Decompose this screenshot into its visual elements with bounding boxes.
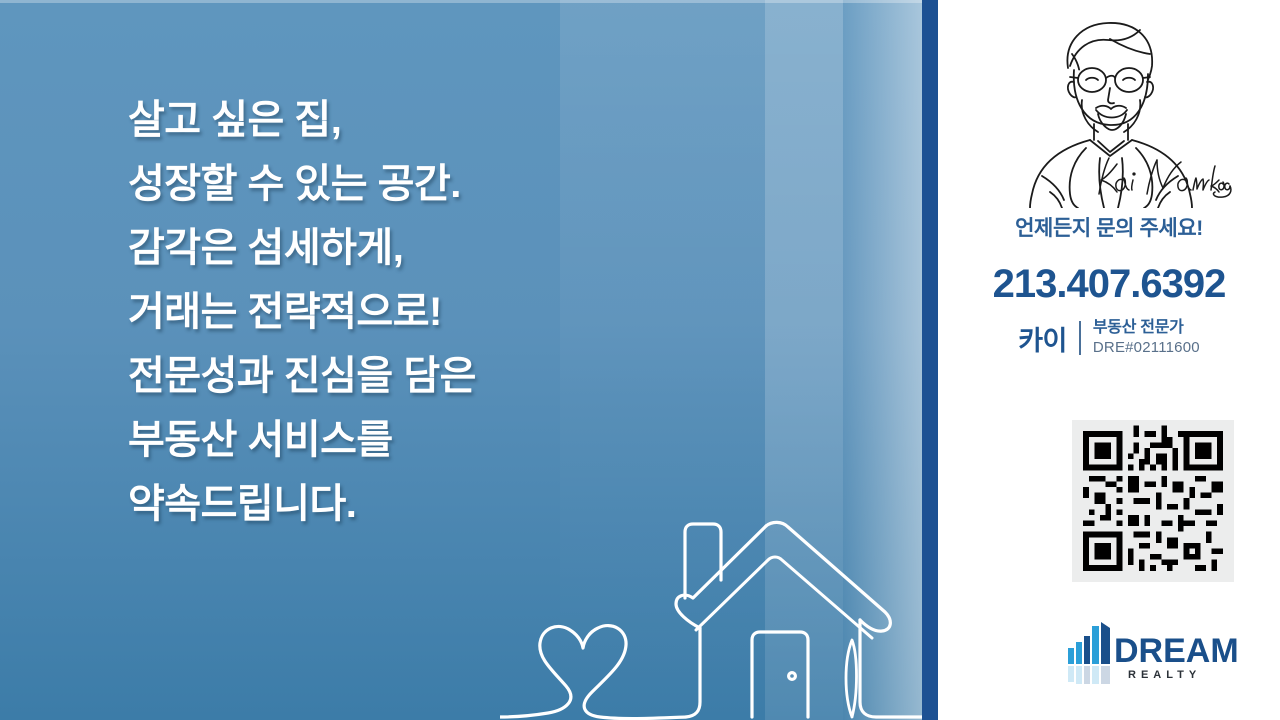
- house-heart-line-art-icon: [500, 480, 938, 720]
- agent-role-block: 부동산 전문가 DRE#02111600: [1093, 318, 1200, 358]
- headline-line-3: 감각은 섬세하게,: [128, 216, 668, 280]
- headline-block: 살고 싶은 집, 성장할 수 있는 공간. 감각은 섬세하게, 거래는 전략적으…: [128, 88, 668, 536]
- headline-line-2: 성장할 수 있는 공간.: [128, 152, 668, 216]
- agent-name: 카이: [1018, 319, 1067, 358]
- promotional-card: 살고 싶은 집, 성장할 수 있는 공간. 감각은 섬세하게, 거래는 전략적으…: [0, 0, 1280, 720]
- svg-text:REALTY: REALTY: [1128, 669, 1201, 681]
- hero-panel: 살고 싶은 집, 성장할 수 있는 공간. 감각은 섬세하게, 거래는 전략적으…: [0, 0, 938, 720]
- headline-line-1: 살고 싶은 집,: [128, 88, 668, 152]
- headline-line-4: 거래는 전략적으로!: [128, 280, 668, 344]
- headline-line-6: 부동산 서비스를: [128, 408, 668, 472]
- navy-accent-strip: [922, 0, 938, 720]
- divider: [1079, 321, 1081, 355]
- building-bars-icon: [1068, 622, 1110, 664]
- top-hairline: [0, 0, 938, 3]
- brand-logo: DREAM REALTY: [1066, 618, 1256, 684]
- headline-line-5: 전문성과 진심을 담은: [128, 344, 668, 408]
- signature: Kai Namkoong: [1093, 152, 1233, 198]
- license-number: DRE#02111600: [1093, 338, 1200, 358]
- phone-number[interactable]: 213.407.6392: [938, 262, 1280, 307]
- agent-role: 부동산 전문가: [1093, 318, 1200, 338]
- cta-text: 언제든지 문의 주세요!: [938, 212, 1280, 242]
- contact-panel: Kai Namkoong: [938, 0, 1280, 720]
- qr-code[interactable]: [1072, 420, 1234, 582]
- svg-text:DREAM: DREAM: [1114, 632, 1239, 670]
- agent-identity-row: 카이 부동산 전문가 DRE#02111600: [938, 318, 1280, 358]
